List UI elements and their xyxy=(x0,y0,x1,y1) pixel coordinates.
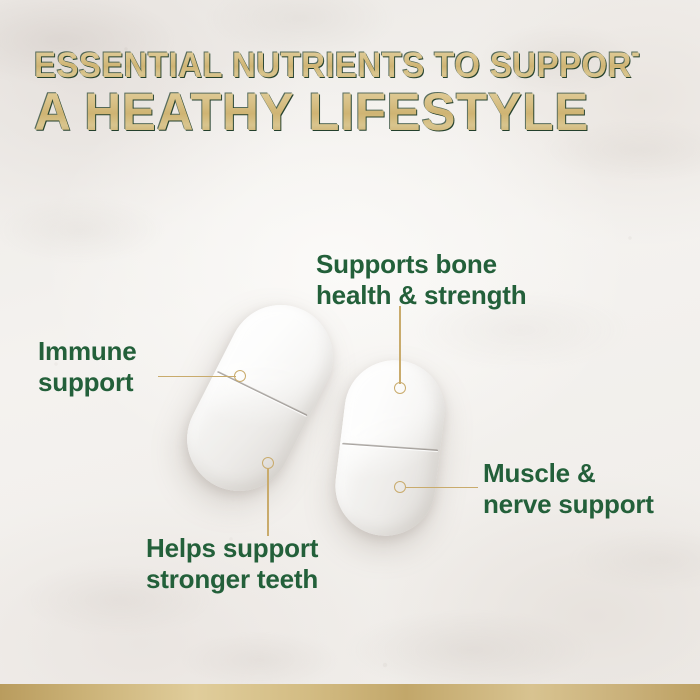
callout-label-muscle-nerve-support: Muscle & nerve support xyxy=(483,458,654,519)
page-title: Essential Nutrients To Support A Heathy … xyxy=(34,48,674,139)
callout-label-bone-health: Supports bone health & strength xyxy=(316,249,526,310)
infographic-canvas: Essential Nutrients To Support A Heathy … xyxy=(0,0,700,700)
callout-label-immune-support: Immune support xyxy=(38,336,136,397)
bottom-gold-accent-bar xyxy=(0,684,700,700)
page-title-line-2: A Heathy Lifestyle xyxy=(34,86,652,139)
page-title-line-1: Essential Nutrients To Support xyxy=(34,48,639,83)
callout-label-stronger-teeth: Helps support stronger teeth xyxy=(146,533,318,594)
